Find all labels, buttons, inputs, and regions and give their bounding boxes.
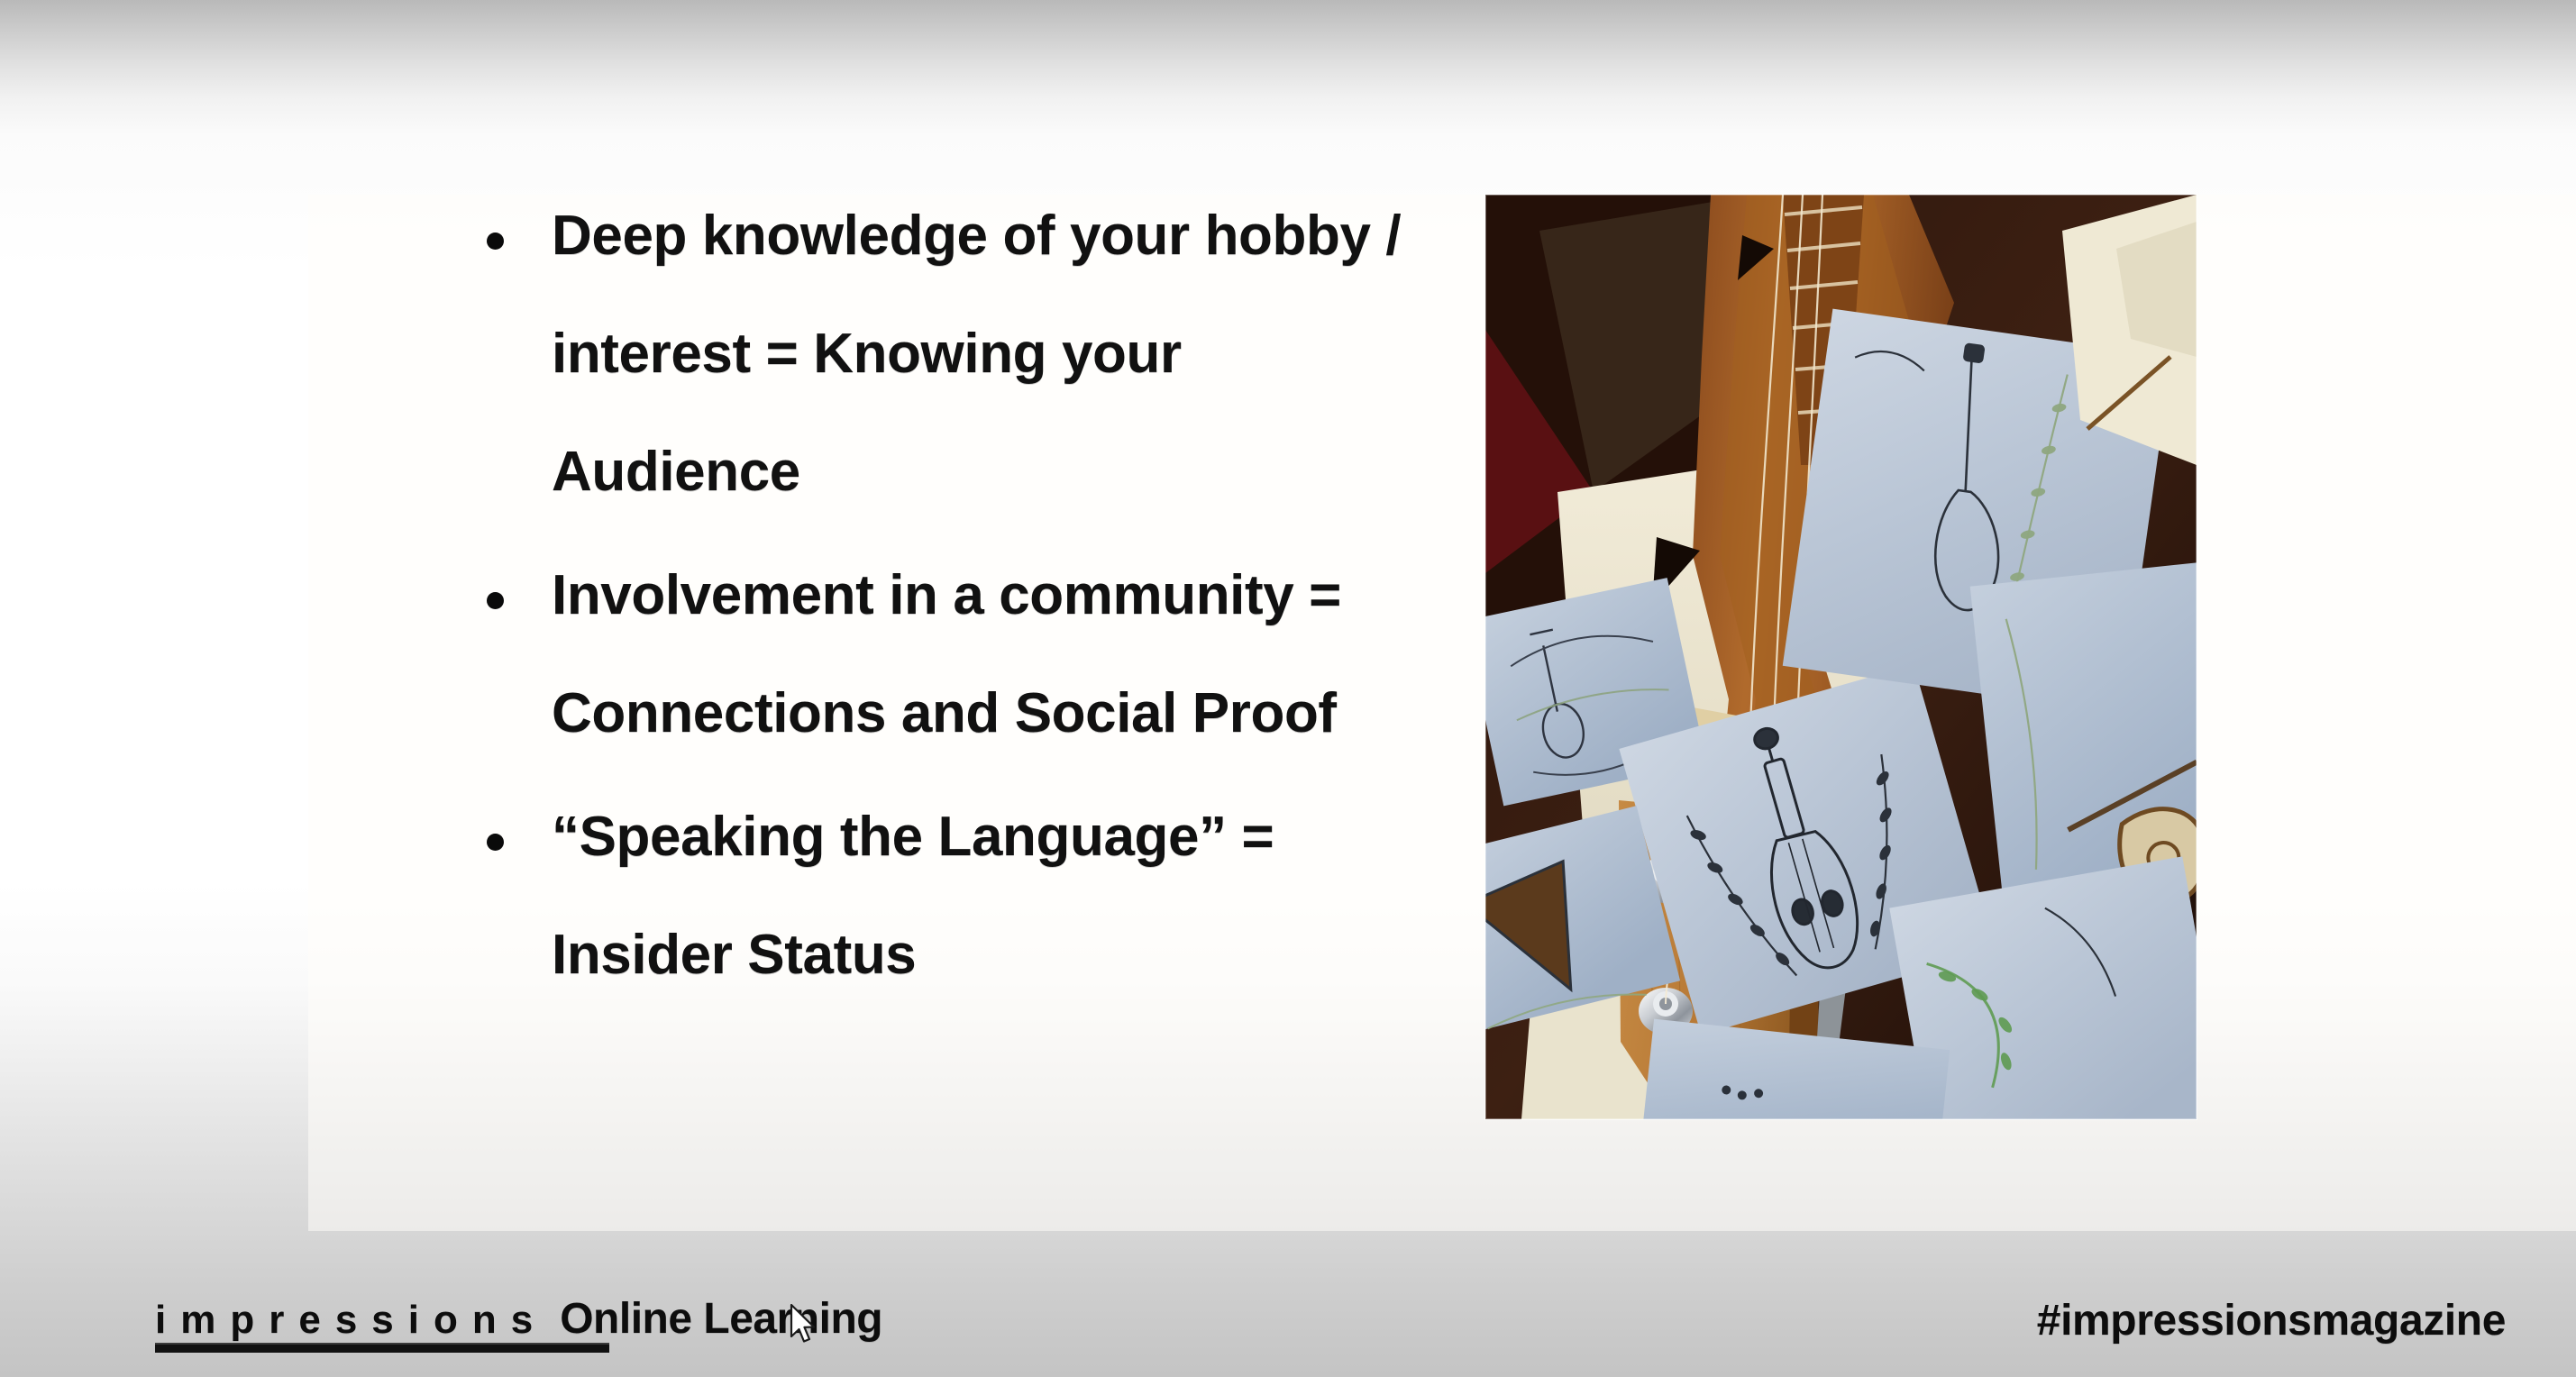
bullet-point-icon (487, 834, 504, 851)
slide-photo (1485, 195, 2197, 1119)
brand-subtitle: Online Learning (560, 1294, 882, 1344)
bullet-text: Deep knowledge of your hobby / interest … (552, 205, 1401, 503)
footer-hashtag: #impressionsmagazine (2037, 1296, 2506, 1345)
bullet-text: Involvement in a community = Connections… (552, 564, 1341, 744)
presentation-slide-view: Deep knowledge of your hobby / interest … (0, 0, 2576, 1377)
brand-wordmark: impressions (155, 1298, 547, 1343)
bullet-list: Deep knowledge of your hobby / interest … (469, 177, 1442, 1019)
bullet-text: “Speaking the Language” = Insider Status (552, 806, 1274, 986)
bullet-point-icon (487, 233, 504, 250)
list-item: “Speaking the Language” = Insider Status (469, 778, 1442, 1014)
list-item: Deep knowledge of your hobby / interest … (469, 177, 1442, 531)
bullet-point-icon (487, 592, 504, 609)
list-item: Involvement in a community = Connections… (469, 536, 1442, 772)
instrument-and-embroidery-photo (1485, 195, 2197, 1119)
footer-brand: impressions Online Learning (155, 1294, 882, 1344)
brand-underline-rule (155, 1343, 609, 1353)
